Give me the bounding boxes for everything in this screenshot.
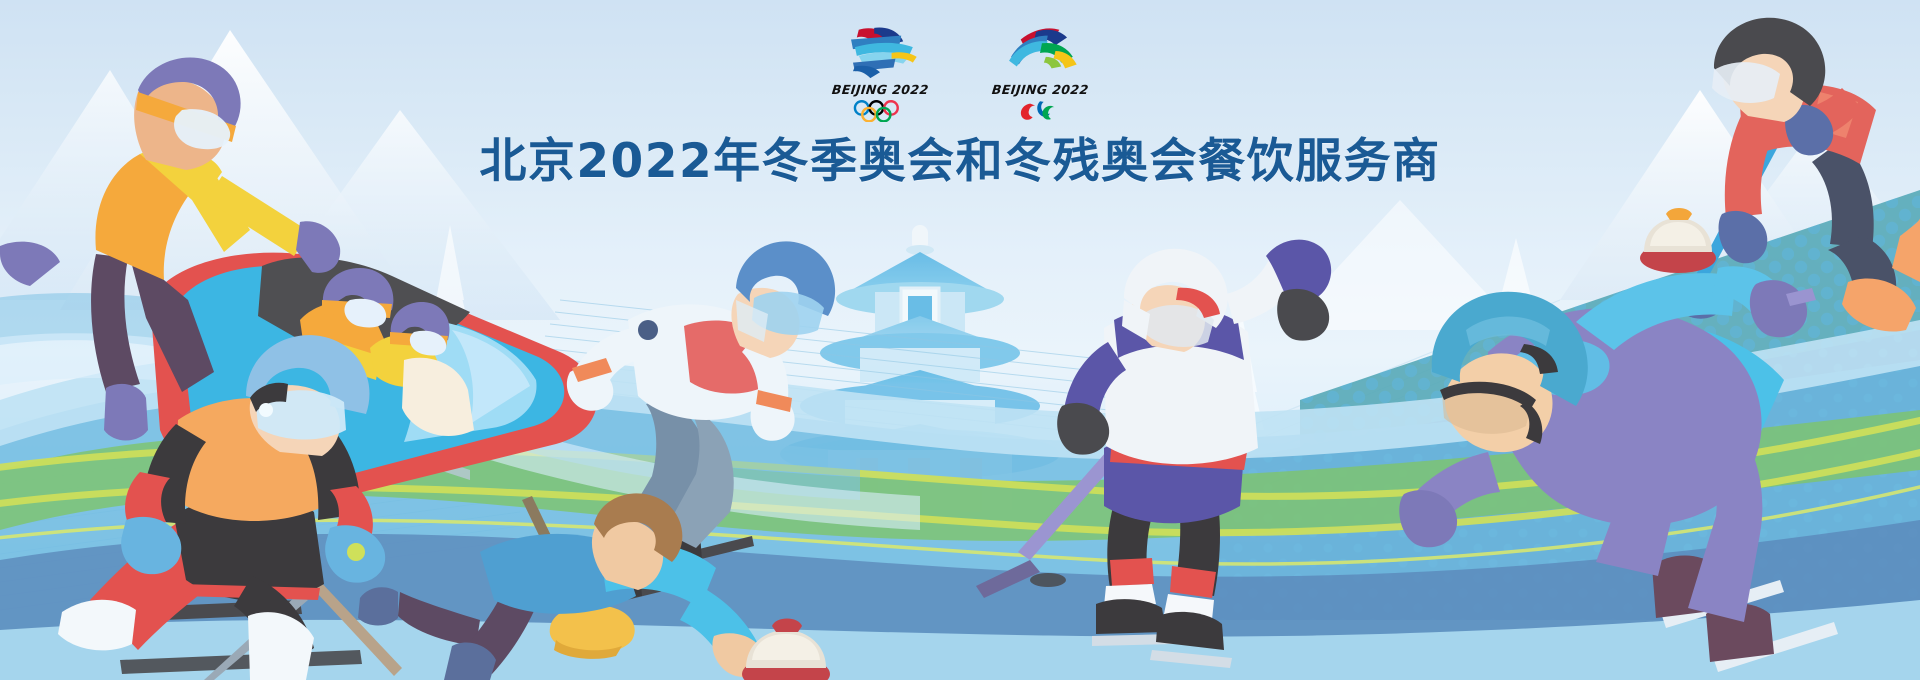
speed-skater-right-icon	[1399, 266, 1838, 672]
hockey-puck-icon	[1030, 573, 1066, 587]
ice-hockey-player-icon	[976, 240, 1331, 668]
curling-stone-icon-2	[1640, 208, 1716, 273]
curler-sliding-icon	[358, 493, 830, 680]
athletes	[0, 0, 1920, 680]
olympic-banner: BEIJING 2022	[0, 0, 1920, 680]
curling-stone-icon	[742, 619, 830, 680]
